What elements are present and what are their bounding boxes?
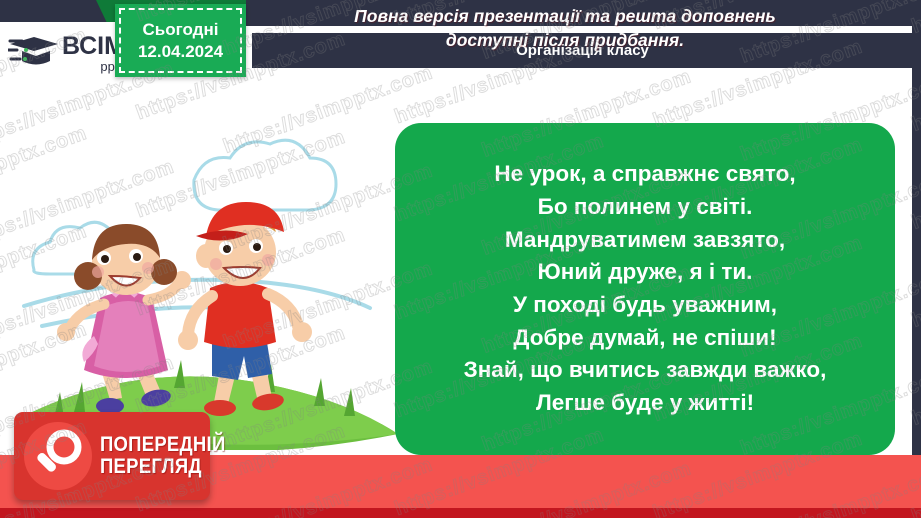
today-date-value: 12.04.2024: [138, 41, 223, 62]
preview-badge-line-1: ПОПЕРЕДНІЙ: [100, 434, 225, 456]
preview-badge[interactable]: ПОПЕРЕДНІЙ ПЕРЕГЛЯД: [14, 412, 210, 500]
today-label: Сьогодні: [143, 19, 219, 40]
poem-line: Знай, що вчитись завжди важко,: [464, 354, 827, 387]
footer-message: Повна версія презентації та решта доповн…: [230, 5, 900, 52]
two-children-walking-illustration: [14, 120, 404, 450]
footer-accent-strip: [0, 508, 921, 518]
magnifier-icon: [24, 422, 92, 490]
poem-line: Добре думай, не спіши!: [513, 322, 776, 355]
slide-canvas: ВСІМ pptx Сьогодні 12.04.2024 Організаці…: [0, 0, 921, 518]
footer-line-2: доступні після придбання.: [230, 29, 900, 53]
preview-badge-line-2: ПЕРЕГЛЯД: [100, 456, 225, 478]
preview-badge-label: ПОПЕРЕДНІЙ ПЕРЕГЛЯД: [100, 434, 243, 478]
today-date-badge: Сьогодні 12.04.2024: [115, 4, 246, 77]
poem-line: Легше буде у житті!: [536, 387, 754, 420]
poem-line: Не урок, а справжнє свято,: [494, 158, 795, 191]
graduation-cap-icon: [8, 31, 60, 75]
poem-line: У поході будь уважним,: [513, 289, 777, 322]
poem-line: Юний друже, я і ти.: [538, 256, 753, 289]
brand-logo[interactable]: ВСІМ pptx: [8, 26, 128, 80]
poem-line: Мандруватимем завзято,: [505, 224, 785, 257]
poem-line: Бо полинем у світі.: [538, 191, 753, 224]
footer-line-1: Повна версія презентації та решта доповн…: [230, 5, 900, 29]
right-edge-strip: [912, 0, 921, 518]
poem-panel: Не урок, а справжнє свято, Бо полинем у …: [395, 123, 895, 455]
